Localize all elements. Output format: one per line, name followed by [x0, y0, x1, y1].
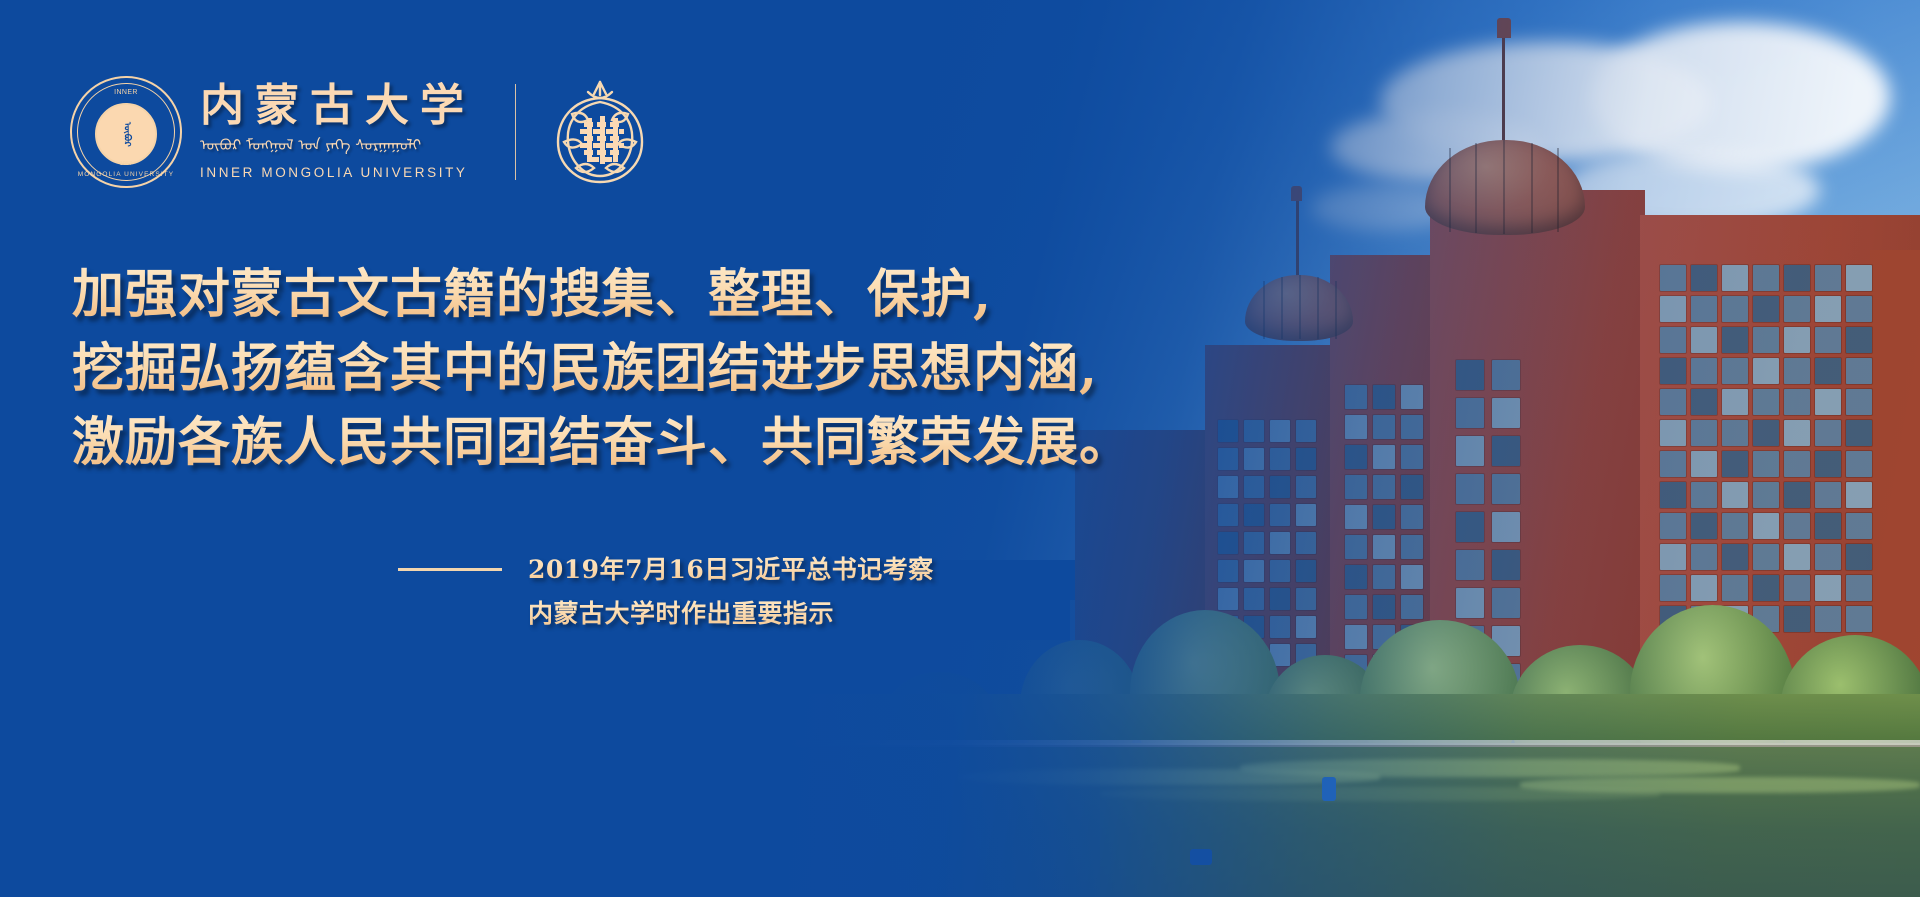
seal-core-text: ᠥᠪᠥᠷ: [122, 122, 131, 147]
quotation-block: 加强对蒙古文古籍的搜集、整理、保护, 挖掘弘扬蕴含其中的民族团结进步思想内涵, …: [72, 258, 1122, 480]
seal-arc-top-text: INNER: [72, 89, 180, 96]
attribution-block: 2019年7月16日习近平总书记考察 内蒙古大学时作出重要指示: [398, 548, 934, 636]
logo-divider: [515, 84, 516, 180]
quote-line-1: 加强对蒙古文古籍的搜集、整理、保护,: [72, 258, 1122, 332]
seal-center-glyph: ᠥᠪᠥᠷ: [95, 103, 157, 165]
attribution-rule: [398, 568, 502, 571]
wordmark-chinese: 内蒙古大学: [200, 84, 475, 128]
seal-year: 1957: [72, 161, 180, 167]
wordmark: 内蒙古大学 ᠥᠪᠥᠷ ᠮᠣᠩᠭᠣᠯ ᠤᠨ ᠶᠡᠬᠡ ᠰᠤᠷᠭᠠᠭᠤᠯᠢ INNE…: [200, 84, 475, 180]
seal-arc-bottom-text: MONGOLIA UNIVERSITY: [72, 171, 180, 178]
university-seal-icon: INNER ᠥᠪᠥᠷ 1957 MONGOLIA UNIVERSITY: [70, 76, 182, 188]
attribution-line-2: 内蒙古大学时作出重要指示: [528, 592, 934, 636]
wordmark-mongolian: ᠥᠪᠥᠷ ᠮᠣᠩᠭᠣᠯ ᠤᠨ ᠶᠡᠬᠡ ᠰᠤᠷᠭᠠᠭᠤᠯᠢ: [200, 138, 421, 153]
banner-image: INNER ᠥᠪᠥᠷ 1957 MONGOLIA UNIVERSITY 内蒙古大…: [0, 0, 1920, 897]
wordmark-english: INNER MONGOLIA UNIVERSITY: [200, 165, 468, 180]
logo-lockup: INNER ᠥᠪᠥᠷ 1957 MONGOLIA UNIVERSITY 内蒙古大…: [70, 72, 650, 192]
pomegranate-weave-emblem-icon: [550, 72, 650, 192]
attribution-line-1: 2019年7月16日习近平总书记考察: [528, 548, 934, 592]
quote-line-3: 激励各族人民共同团结奋斗、共同繁荣发展。: [72, 406, 1122, 480]
quote-line-2: 挖掘弘扬蕴含其中的民族团结进步思想内涵,: [72, 332, 1122, 406]
